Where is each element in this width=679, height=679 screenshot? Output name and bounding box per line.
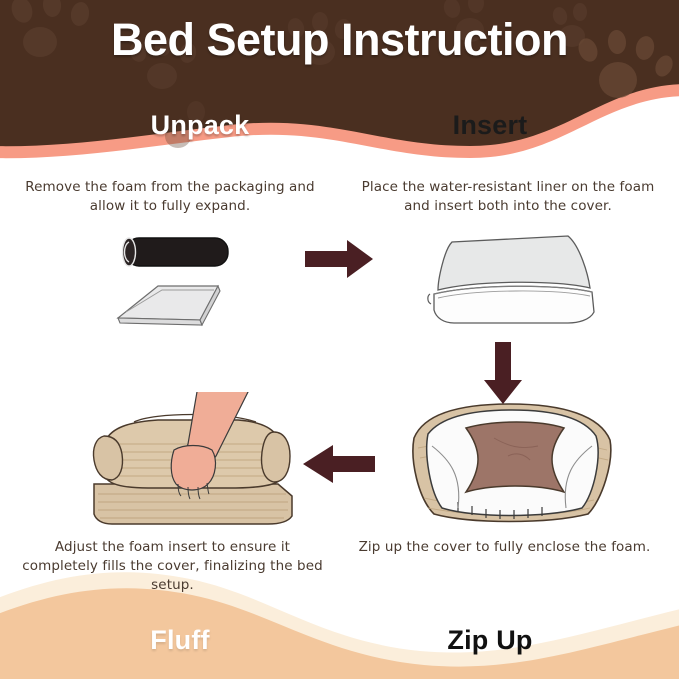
illustration-unpack bbox=[96, 228, 286, 338]
caption-fluff: Adjust the foam insert to ensure it comp… bbox=[20, 538, 325, 595]
folded-liner-icon bbox=[118, 286, 220, 325]
arrow-down-icon bbox=[482, 342, 524, 404]
arrow-right-icon bbox=[305, 238, 373, 280]
zipped-bed-cover-icon bbox=[413, 404, 611, 522]
foam-liner-stack-icon bbox=[428, 236, 594, 323]
hand-fluffing-bed-icon bbox=[93, 392, 292, 524]
illustration-insert bbox=[418, 228, 608, 338]
arrow-left-icon bbox=[303, 443, 375, 485]
illustration-fluff bbox=[78, 392, 318, 532]
caption-zipup: Zip up the cover to fully enclose the fo… bbox=[352, 538, 657, 557]
caption-insert: Place the water-resistant liner on the f… bbox=[352, 178, 664, 216]
header-banner: Bed Setup Instruction Unpack Insert bbox=[0, 0, 679, 175]
page-title: Bed Setup Instruction bbox=[0, 14, 679, 66]
illustration-zipup bbox=[398, 398, 623, 528]
step-label-unpack: Unpack bbox=[60, 110, 340, 141]
step-label-fluff: Fluff bbox=[40, 625, 320, 656]
caption-unpack: Remove the foam from the packaging and a… bbox=[14, 178, 326, 216]
bed-setup-infographic: Bed Setup Instruction Unpack Insert Remo… bbox=[0, 0, 679, 679]
step-label-zipup: Zip Up bbox=[350, 625, 630, 656]
step-label-insert: Insert bbox=[350, 110, 630, 141]
rolled-foam-icon bbox=[123, 238, 229, 266]
